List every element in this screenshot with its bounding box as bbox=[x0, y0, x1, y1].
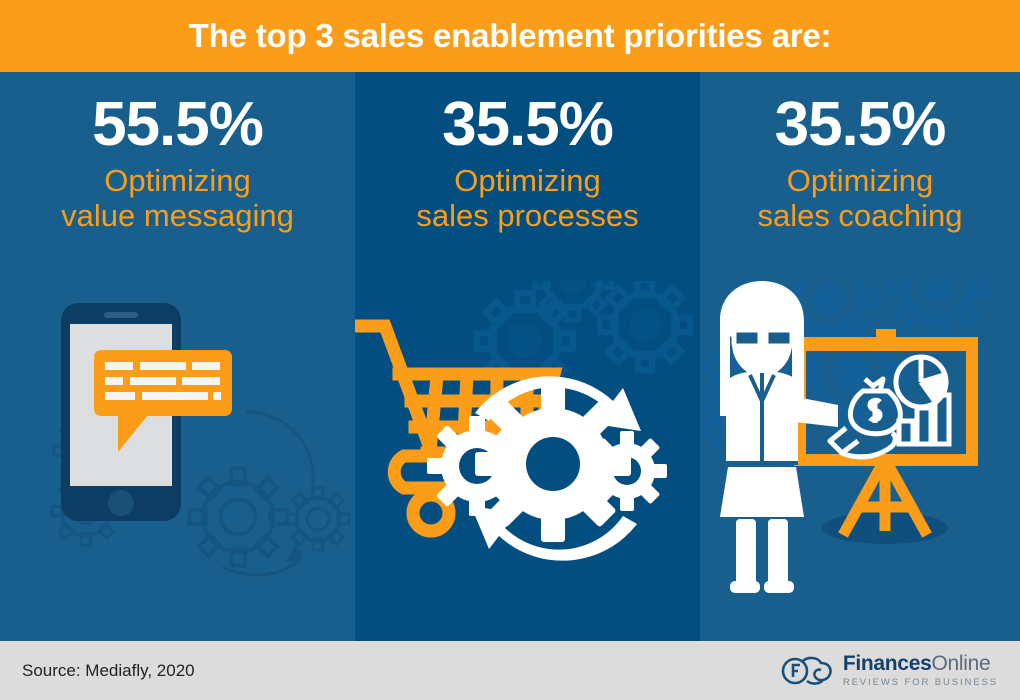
stat-block: 35.5% Optimizing sales processes bbox=[355, 72, 700, 233]
logo-name: FinancesOnline bbox=[843, 653, 998, 674]
logo-tagline: REVIEWS FOR BUSINESS bbox=[843, 678, 998, 688]
logo-text: FinancesOnline REVIEWS FOR BUSINESS bbox=[843, 653, 998, 688]
header-banner: The top 3 sales enablement priorities ar… bbox=[0, 0, 1020, 72]
infographic-root: The top 3 sales enablement priorities ar… bbox=[0, 0, 1020, 700]
stats-columns: 55.5% Optimizing value messaging bbox=[0, 72, 1020, 641]
stat-percent: 35.5% bbox=[700, 94, 1020, 156]
stat-label: Optimizing sales processes bbox=[355, 164, 700, 233]
stat-column-sales-processes: 35.5% Optimizing sales processes bbox=[355, 72, 700, 641]
header-title: The top 3 sales enablement priorities ar… bbox=[189, 17, 832, 55]
logo-name-thin: Online bbox=[931, 652, 990, 675]
stat-block: 55.5% Optimizing value messaging bbox=[0, 72, 355, 233]
stat-column-sales-coaching: 35.5% Optimizing sales coaching bbox=[700, 72, 1020, 641]
stat-percent: 55.5% bbox=[0, 94, 355, 156]
source-citation: Source: Mediafly, 2020 bbox=[22, 661, 195, 681]
stat-percent: 35.5% bbox=[355, 94, 700, 156]
logo-name-bold: Finances bbox=[843, 652, 932, 675]
stat-label: Optimizing sales coaching bbox=[700, 164, 1020, 233]
stat-column-value-messaging: 55.5% Optimizing value messaging bbox=[0, 72, 355, 641]
smartphone-message-icon bbox=[0, 281, 355, 641]
financesonline-logo[interactable]: FinancesOnline REVIEWS FOR BUSINESS bbox=[780, 653, 998, 688]
footer-bar: Source: Mediafly, 2020 FinancesOnline RE… bbox=[0, 641, 1020, 700]
cloud-f-logo-icon bbox=[780, 654, 834, 688]
stat-label: Optimizing value messaging bbox=[0, 164, 355, 233]
stat-block: 35.5% Optimizing sales coaching bbox=[700, 72, 1020, 233]
presenter-whiteboard-icon bbox=[700, 281, 1020, 641]
shopping-cart-gears-icon bbox=[355, 281, 700, 641]
